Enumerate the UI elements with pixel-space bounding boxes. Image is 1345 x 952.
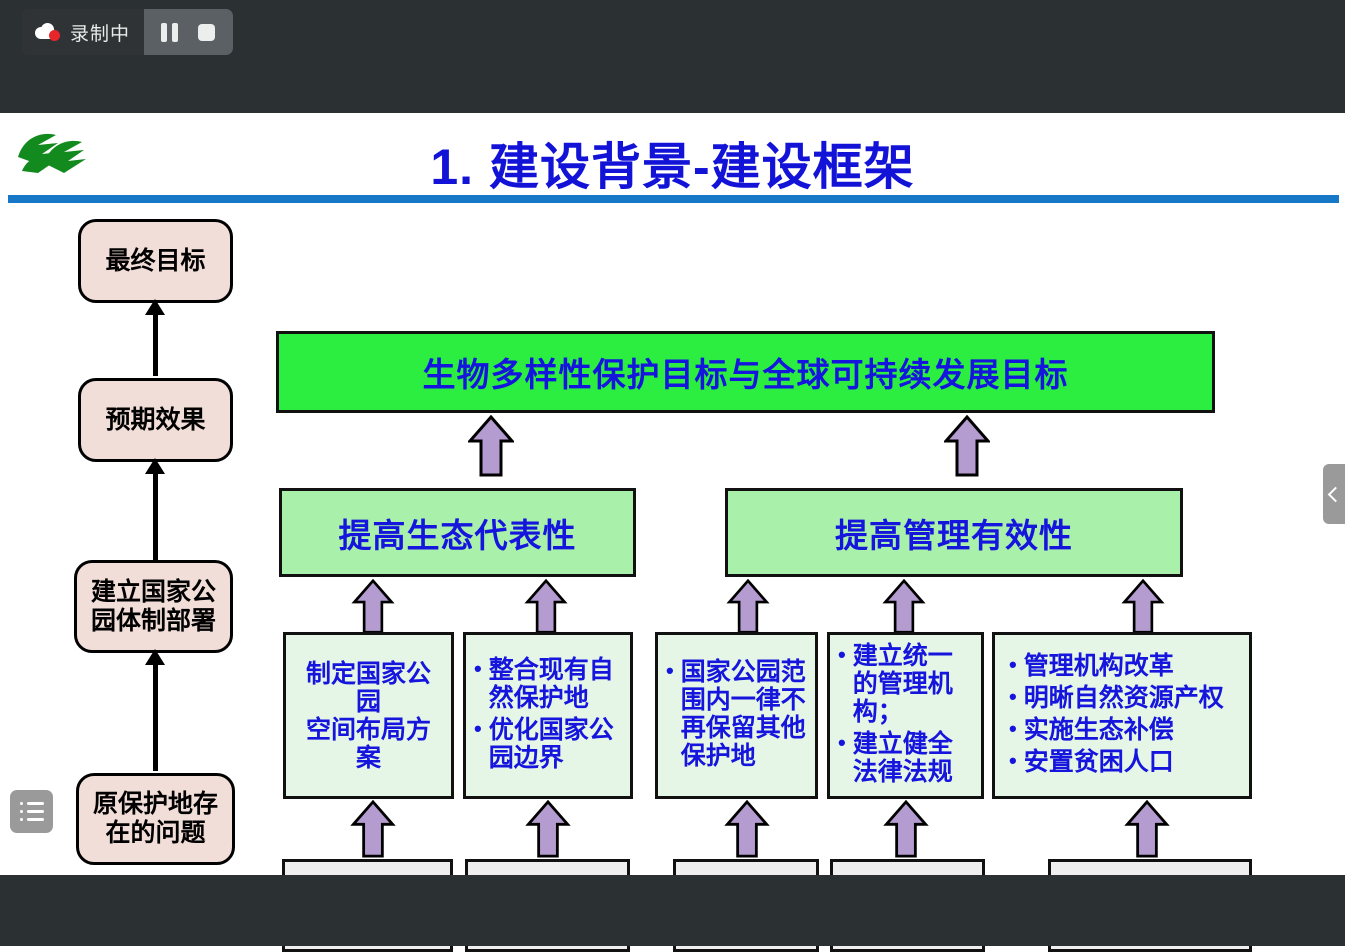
slide-canvas: 1. 建设背景-建设框架 最终目标 预期效果 建立国家公 园体制部署 原保护地存…	[0, 113, 1345, 875]
list-item: • 国家公园范围内一律不再保留其他保护地	[666, 658, 807, 770]
row-label-system-deployment: 建立国家公 园体制部署	[74, 560, 233, 653]
bullet-list: • 整合现有自然保护地 • 优化国家公园边界	[474, 656, 622, 776]
connector-arrowhead-2	[145, 458, 165, 474]
arrow-task-4-to-effect	[879, 579, 929, 634]
connector-line-2	[153, 468, 158, 560]
arrow-effect-1-to-goal	[468, 415, 514, 477]
connector-line-3	[153, 659, 158, 771]
bullet-point-icon: •	[1009, 652, 1017, 678]
task-box-integrate-protected-areas: • 整合现有自然保护地 • 优化国家公园边界	[463, 632, 633, 799]
row-label-existing-problems: 原保护地存 在的问题	[76, 773, 235, 865]
title-divider	[8, 195, 1339, 203]
task-box-no-other-protected-areas: • 国家公园范围内一律不再保留其他保护地	[655, 632, 818, 799]
arrow-task-2-to-effect	[521, 579, 571, 634]
bullet-list: • 管理机构改革 • 明晰自然资源产权 • 实施生态补偿 • 安置贫困人口	[1009, 652, 1235, 780]
connector-arrowhead-3	[145, 649, 165, 665]
recording-status: 录制中	[22, 9, 144, 55]
recording-pill: 录制中	[22, 9, 233, 55]
cloud-record-icon	[35, 23, 61, 41]
bullet-point-icon: •	[1009, 748, 1017, 774]
row-label-final-goal: 最终目标	[78, 219, 233, 303]
pause-icon[interactable]	[161, 23, 178, 42]
task-box-management-reform-items: • 管理机构改革 • 明晰自然资源产权 • 实施生态补偿 • 安置贫困人口	[992, 632, 1252, 799]
effect-box-ecological-representativeness: 提高生态代表性	[279, 488, 636, 577]
bullet-list: • 国家公园范围内一律不再保留其他保护地	[666, 658, 807, 774]
list-item: • 管理机构改革	[1009, 652, 1235, 680]
list-item: • 明晰自然资源产权	[1009, 684, 1235, 712]
arrow-problem-1-to-task	[348, 800, 398, 858]
sidebar-collapse-handle[interactable]	[1323, 464, 1345, 524]
bullet-point-icon: •	[838, 642, 846, 668]
list-item: • 建立统一的管理机构；	[838, 642, 973, 726]
recording-top-bar: 录制中	[0, 0, 1345, 113]
arrow-task-3-to-effect	[723, 579, 773, 634]
task-box-unified-management-laws: • 建立统一的管理机构； • 建立健全法律法规	[827, 632, 984, 799]
bullet-point-icon: •	[666, 658, 674, 684]
connector-line-1	[153, 309, 158, 376]
bullet-point-icon: •	[1009, 684, 1017, 710]
framework-diagram: 最终目标 预期效果 建立国家公 园体制部署 原保护地存 在的问题 生物多样性保护…	[0, 203, 1345, 875]
bullet-point-icon: •	[1009, 716, 1017, 742]
arrow-problem-5-to-task	[1122, 800, 1172, 858]
connector-arrowhead-1	[145, 299, 165, 315]
list-item: • 整合现有自然保护地	[474, 656, 622, 712]
arrow-problem-2-to-task	[523, 800, 573, 858]
arrow-problem-4-to-task	[881, 800, 931, 858]
bullet-point-icon: •	[474, 656, 482, 682]
arrow-task-1-to-effect	[348, 579, 398, 634]
arrow-task-5-to-effect	[1118, 579, 1168, 634]
bullet-point-icon: •	[838, 730, 846, 756]
list-item: • 建立健全法律法规	[838, 730, 973, 786]
list-item: • 安置贫困人口	[1009, 748, 1235, 776]
row-label-expected-effect: 预期效果	[78, 378, 233, 462]
effect-box-management-effectiveness: 提高管理有效性	[725, 488, 1183, 577]
chevron-left-icon	[1328, 486, 1344, 502]
arrow-problem-3-to-task	[722, 800, 772, 858]
stop-icon[interactable]	[198, 24, 215, 41]
bottom-dark-bar	[0, 875, 1345, 946]
list-item: • 优化国家公园边界	[474, 716, 622, 772]
list-menu-icon[interactable]	[10, 790, 53, 833]
arrow-effect-2-to-goal	[944, 415, 990, 477]
top-goal-banner: 生物多样性保护目标与全球可持续发展目标	[276, 331, 1215, 413]
bullet-point-icon: •	[474, 716, 482, 742]
recording-status-label: 录制中	[70, 19, 130, 46]
list-item: • 实施生态补偿	[1009, 716, 1235, 744]
bullet-list: • 建立统一的管理机构； • 建立健全法律法规	[838, 642, 973, 790]
task-box-spatial-layout-plan: 制定国家公园 空间布局方案	[283, 632, 454, 799]
recording-controls	[144, 9, 233, 55]
page-title: 1. 建设背景-建设框架	[0, 127, 1345, 199]
